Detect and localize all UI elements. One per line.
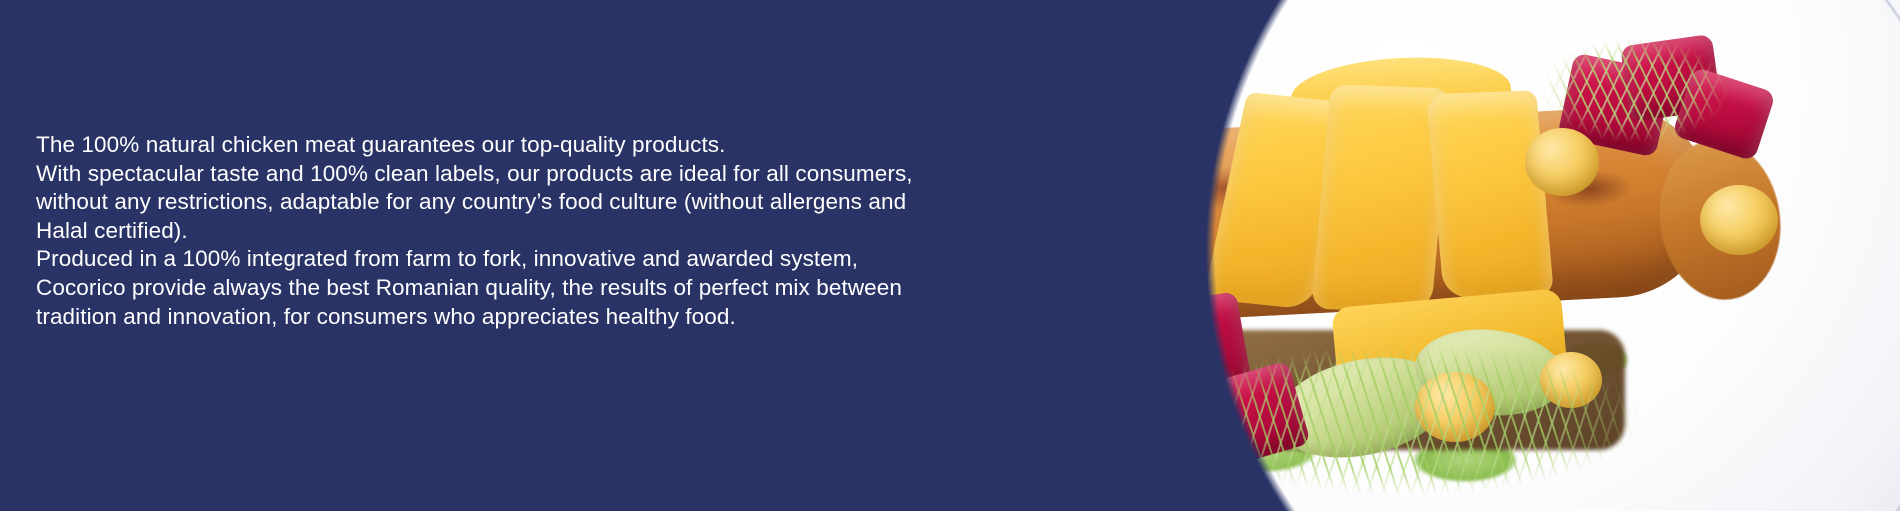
- copy-line: Cocorico provide always the best Romania…: [36, 274, 1066, 303]
- copy-line: Produced in a 100% integrated from farm …: [36, 245, 1066, 274]
- microgreens-sprouts: [1125, 330, 1685, 510]
- food-composition: [1085, 0, 1900, 511]
- copy-line: tradition and innovation, for consumers …: [36, 303, 1066, 332]
- copy-line: The 100% natural chicken meat guarantees…: [36, 131, 1066, 160]
- food-photo: [1085, 0, 1900, 511]
- microgreens-sprouts-top: [1525, 28, 1755, 158]
- copy-line: without any restrictions, adaptable for …: [36, 188, 1066, 217]
- marketing-copy: The 100% natural chicken meat guarantees…: [36, 131, 1066, 331]
- copy-line: Halal certified).: [36, 217, 1066, 246]
- product-banner: The 100% natural chicken meat guarantees…: [0, 0, 1900, 511]
- mustard-dollop: [1700, 185, 1778, 255]
- copy-line: With spectacular taste and 100% clean la…: [36, 160, 1066, 189]
